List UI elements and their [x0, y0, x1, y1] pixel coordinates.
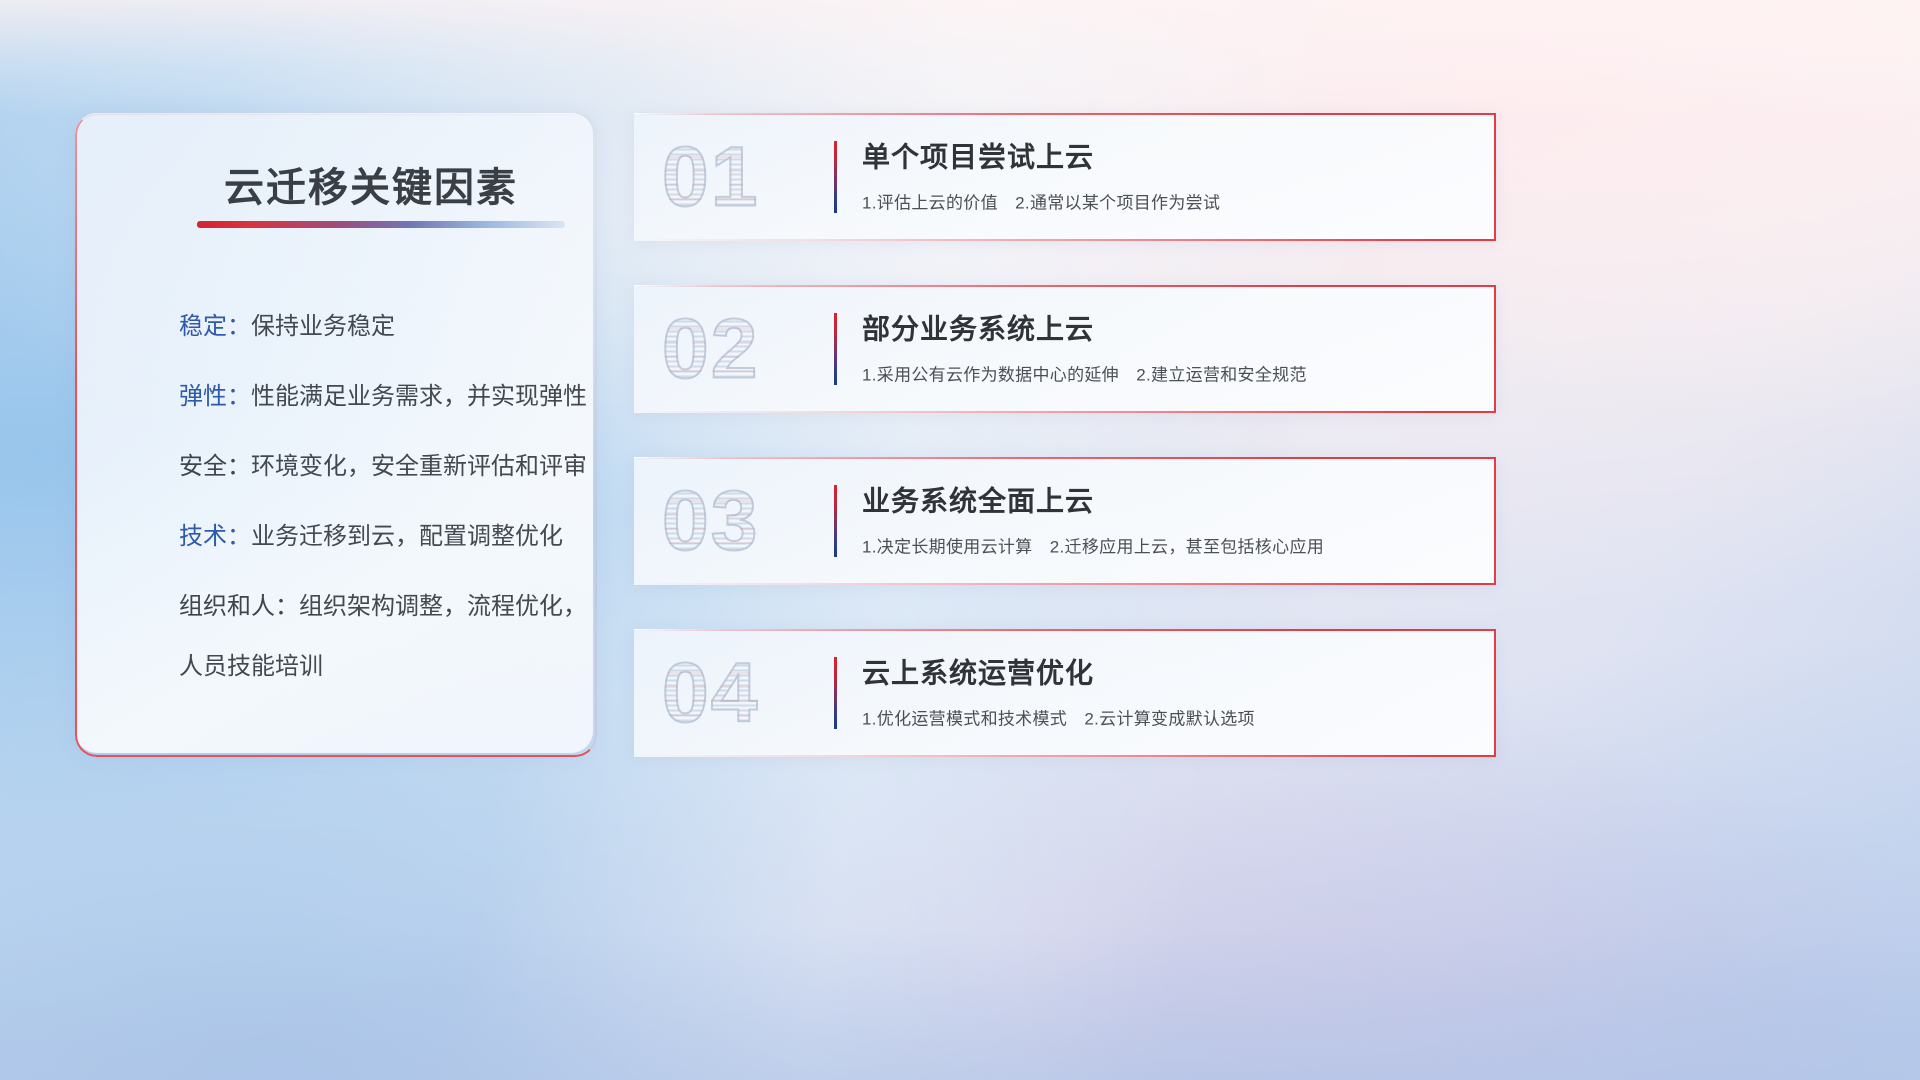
factor-label: 组织和人： [179, 593, 299, 620]
card-top-border [634, 285, 1496, 287]
factor-label: 稳定： [179, 313, 251, 340]
factor-text: 环境变化，安全重新评估和评审 [251, 453, 587, 480]
card-description: 1.采用公有云作为数据中心的延伸 2.建立运营和安全规范 [862, 360, 1472, 385]
card-bottom-border [634, 411, 1496, 413]
card-bottom-border [634, 755, 1496, 757]
factor-label: 弹性： [179, 383, 251, 410]
factor-text: 性能满足业务需求，并实现弹性 [251, 383, 587, 410]
list-item: 稳定：保持业务稳定 [179, 310, 579, 344]
stage-number: 03 [662, 473, 759, 570]
card-body: 单个项目尝试上云 1.评估上云的价值 2.通常以某个项目作为尝试 [862, 141, 1472, 214]
title-underline-bar [197, 221, 565, 228]
stage-card[interactable]: 02 02 部分业务系统上云 1.采用公有云作为数据中心的延伸 2.建立运营和安… [634, 285, 1496, 413]
card-top-border [634, 457, 1496, 459]
card-title: 云上系统运营优化 [862, 657, 1472, 691]
card-description: 1.决定长期使用云计算 2.迁移应用上云，甚至包括核心应用 [862, 532, 1472, 557]
list-item: 技术：业务迁移到云，配置调整优化 [179, 520, 579, 554]
stage-card[interactable]: 04 04 云上系统运营优化 1.优化运营模式和技术模式 2.云计算变成默认选项 [634, 629, 1496, 757]
card-bottom-border [634, 239, 1496, 241]
factor-label: 技术： [179, 523, 251, 550]
background-bottom-glow [0, 930, 1920, 1080]
factor-text-continuation: 人员技能培训 [179, 650, 579, 684]
card-accent-bar [834, 141, 837, 213]
stage-card-list: 01 01 单个项目尝试上云 1.评估上云的价值 2.通常以某个项目作为尝试 0… [634, 113, 1496, 757]
key-factors-panel: 云迁移关键因素 稳定：保持业务稳定 弹性：性能满足业务需求，并实现弹性 安全：环… [75, 113, 593, 753]
stage-number: 02 [662, 301, 759, 398]
card-description: 1.评估上云的价值 2.通常以某个项目作为尝试 [862, 188, 1472, 213]
card-top-border [634, 113, 1496, 115]
card-accent-bar [834, 657, 837, 729]
factor-text: 组织架构调整，流程优化， [299, 593, 587, 620]
stage-number: 04 [662, 645, 759, 742]
factor-text: 业务迁移到云，配置调整优化 [251, 523, 563, 550]
background-warm-top-glow [0, 0, 1920, 118]
stage-number: 01 [662, 129, 759, 226]
card-right-border [1494, 457, 1496, 585]
factor-list: 稳定：保持业务稳定 弹性：性能满足业务需求，并实现弹性 安全：环境变化，安全重新… [179, 310, 579, 684]
card-right-border [1494, 629, 1496, 757]
card-body: 业务系统全面上云 1.决定长期使用云计算 2.迁移应用上云，甚至包括核心应用 [862, 485, 1472, 558]
card-accent-bar [834, 485, 837, 557]
factor-label: 安全： [179, 453, 251, 480]
card-title: 单个项目尝试上云 [862, 141, 1472, 175]
stage-card[interactable]: 01 01 单个项目尝试上云 1.评估上云的价值 2.通常以某个项目作为尝试 [634, 113, 1496, 241]
factor-text: 保持业务稳定 [251, 313, 395, 340]
card-bottom-border [634, 583, 1496, 585]
stage-card[interactable]: 03 03 业务系统全面上云 1.决定长期使用云计算 2.迁移应用上云，甚至包括… [634, 457, 1496, 585]
card-right-border [1494, 285, 1496, 413]
list-item: 弹性：性能满足业务需求，并实现弹性 [179, 380, 579, 414]
card-body: 云上系统运营优化 1.优化运营模式和技术模式 2.云计算变成默认选项 [862, 657, 1472, 730]
card-body: 部分业务系统上云 1.采用公有云作为数据中心的延伸 2.建立运营和安全规范 [862, 313, 1472, 386]
list-item: 安全：环境变化，安全重新评估和评审 [179, 450, 579, 484]
page-title: 云迁移关键因素 [161, 155, 581, 213]
card-accent-bar [834, 313, 837, 385]
card-title: 业务系统全面上云 [862, 485, 1472, 519]
card-top-border [634, 629, 1496, 631]
card-description: 1.优化运营模式和技术模式 2.云计算变成默认选项 [862, 704, 1472, 729]
card-right-border [1494, 113, 1496, 241]
card-title: 部分业务系统上云 [862, 313, 1472, 347]
list-item: 组织和人：组织架构调整，流程优化， 人员技能培训 [179, 590, 579, 684]
